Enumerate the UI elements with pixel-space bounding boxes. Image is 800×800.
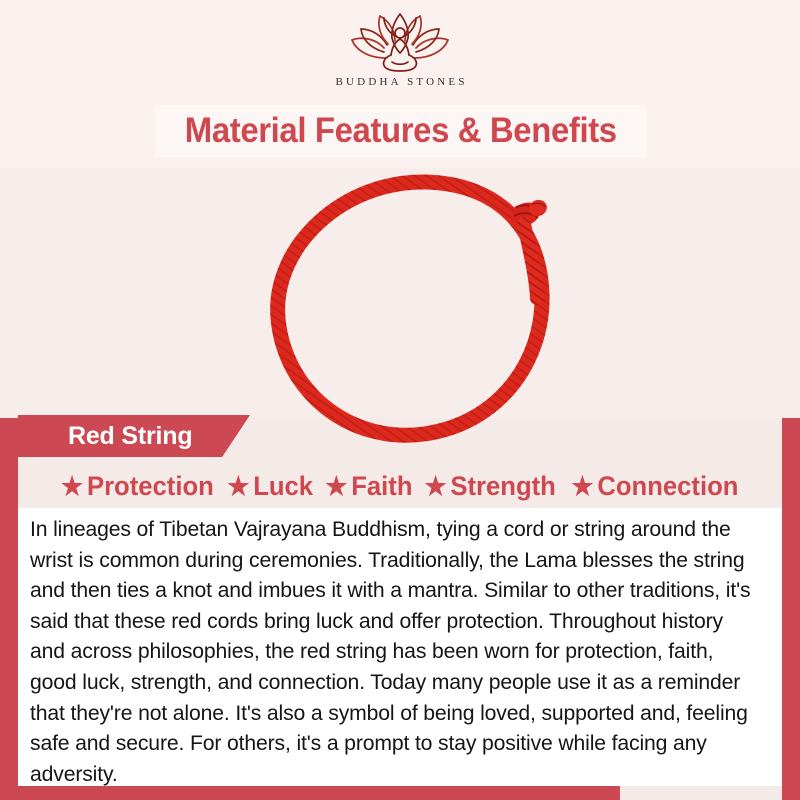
benefit-label: Faith — [351, 471, 412, 502]
benefit-item: ★ Faith — [325, 471, 412, 502]
brand-name: BUDDHA STONES — [0, 76, 800, 88]
description-panel: In lineages of Tibetan Vajrayana Buddhis… — [18, 508, 782, 786]
red-string-bracelet-image — [248, 166, 588, 456]
star-icon: ★ — [325, 473, 347, 499]
product-name-label: Red String — [18, 422, 192, 451]
description-text: In lineages of Tibetan Vajrayana Buddhis… — [30, 514, 755, 789]
benefit-item: ★ Protection — [61, 471, 214, 502]
star-icon: ★ — [425, 473, 447, 499]
lotus-meditation-icon — [348, 8, 452, 74]
benefit-label: Strength — [451, 471, 556, 502]
benefit-item: ★ Strength — [425, 471, 556, 502]
title-band: Material Features & Benefits — [155, 105, 647, 157]
benefit-item: ★ Luck — [228, 471, 314, 502]
benefits-list: ★ Protection ★ Luck ★ Faith ★ Strength ★… — [18, 464, 782, 508]
page-title: Material Features & Benefits — [185, 111, 617, 151]
benefit-label: Connection — [597, 471, 738, 502]
brand-logo: BUDDHA STONES — [0, 8, 800, 88]
benefit-item: ★ Connection — [571, 471, 738, 502]
product-photo-area — [0, 168, 800, 418]
star-icon: ★ — [228, 473, 250, 499]
product-name-banner: Red String — [18, 415, 250, 457]
infographic-page: BUDDHA STONES Material Features & Benefi… — [0, 0, 800, 800]
benefit-label: Protection — [87, 471, 214, 502]
benefit-label: Luck — [253, 471, 313, 502]
star-icon: ★ — [61, 473, 83, 499]
header: BUDDHA STONES Material Features & Benefi… — [0, 0, 800, 168]
star-icon: ★ — [571, 473, 593, 499]
